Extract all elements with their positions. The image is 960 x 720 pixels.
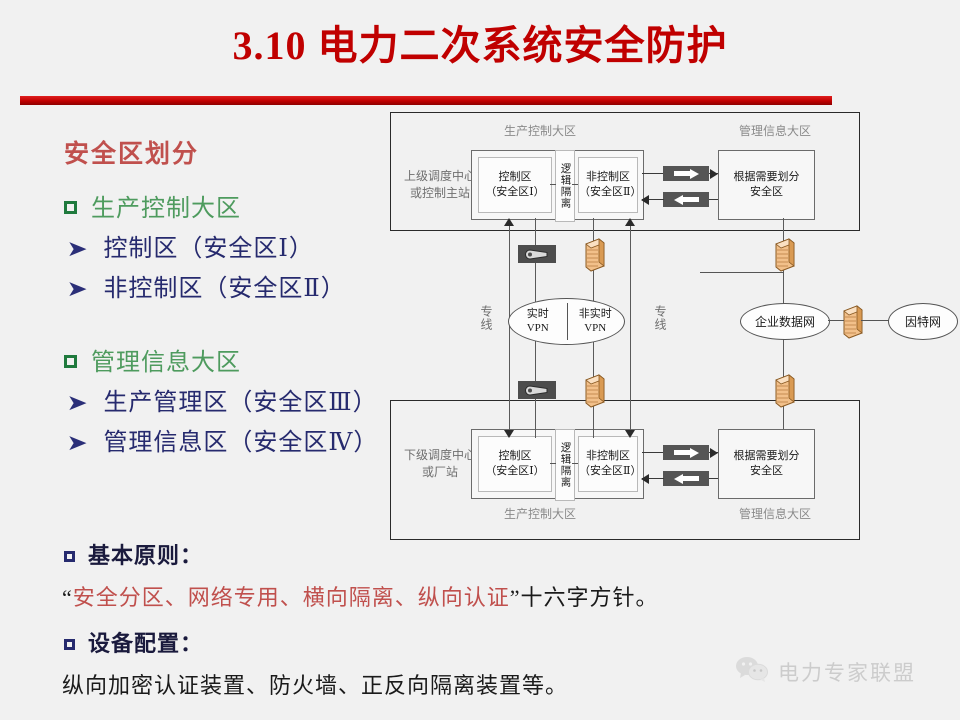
top-prod-caption: 生产控制大区 bbox=[455, 122, 625, 139]
bottom-iso-dash-right bbox=[572, 463, 578, 464]
top-iso-dash-right bbox=[572, 184, 578, 185]
top-reverse-line-in bbox=[709, 199, 718, 200]
slide-root: 3.10 电力二次系统安全防护 安全区划分 生产控制大区 ➤控制区（安全区Ⅰ） … bbox=[0, 0, 960, 720]
link-top-mgmt-down bbox=[783, 218, 784, 240]
vpn-realtime-label: 实时 VPN bbox=[509, 299, 567, 344]
trunk-dedicated-left-arrow-down bbox=[504, 430, 514, 438]
watermark: 电力专家联盟 bbox=[735, 655, 916, 688]
top-reverse-isolation-device[interactable] bbox=[663, 192, 709, 207]
bottom-nonrealtime-firewall[interactable] bbox=[583, 374, 605, 408]
security-zone-diagram: 生产控制大区 管理信息大区 上级调度中心 或控制主站 控制区 （安全区Ⅰ） 逻辑… bbox=[0, 0, 960, 720]
top-forward-isolation-device[interactable] bbox=[663, 166, 709, 181]
top-iso-dash-left bbox=[550, 184, 556, 185]
vpn-oval: 实时 VPN 非实时 VPN bbox=[508, 298, 625, 345]
bottom-reverse-arrowhead bbox=[641, 474, 649, 484]
watermark-text: 电力专家联盟 bbox=[778, 657, 916, 687]
link-firewall-internet bbox=[861, 320, 889, 321]
trunk-dedicated-right-arrow-up bbox=[625, 218, 635, 226]
bottom-forward-arrowhead bbox=[710, 448, 718, 458]
top-forward-arrowhead bbox=[710, 169, 718, 179]
top-nonrealtime-firewall[interactable] bbox=[583, 238, 605, 272]
vpn-nonrealtime-label: 非实时 VPN bbox=[567, 299, 625, 344]
top-isolation-label: 逻辑隔离 bbox=[555, 150, 575, 222]
link-entnet-firewall bbox=[828, 320, 844, 321]
trunk-dedicated-left-arrow-up bbox=[504, 218, 514, 226]
enterprise-network-oval: 企业数据网 bbox=[740, 303, 830, 340]
bottom-iso-dash-left bbox=[550, 463, 556, 464]
bottom-mgmt-zone-text: 根据需要划分 安全区 bbox=[734, 449, 800, 480]
bottom-reverse-line-in bbox=[709, 478, 718, 479]
dedicated-line-left-label: 专线 bbox=[478, 305, 495, 331]
bottom-encryption-device[interactable] bbox=[518, 381, 556, 399]
top-reverse-arrowhead bbox=[641, 195, 649, 205]
internet-firewall[interactable] bbox=[841, 305, 863, 339]
bottom-mgmt-firewall[interactable] bbox=[773, 374, 795, 408]
bottom-control-zone: 控制区 （安全区Ⅰ） bbox=[478, 436, 552, 492]
bottom-isolation-label: 逻辑隔离 bbox=[555, 429, 575, 501]
bottom-prod-caption: 生产控制大区 bbox=[455, 505, 625, 522]
top-encryption-device[interactable] bbox=[518, 245, 556, 263]
internet-oval: 因特网 bbox=[888, 303, 958, 340]
wechat-icon bbox=[735, 655, 769, 688]
trunk-dedicated-left bbox=[509, 224, 510, 436]
link-top-mgmt-h bbox=[700, 272, 784, 273]
top-control-zone: 控制区 （安全区Ⅰ） bbox=[478, 157, 552, 213]
top-mgmt-firewall[interactable] bbox=[773, 238, 795, 272]
bottom-mgmt-caption: 管理信息大区 bbox=[690, 505, 860, 522]
bottom-reverse-isolation-device[interactable] bbox=[663, 471, 709, 486]
bottom-noncontrol-zone: 非控制区 （安全区Ⅱ） bbox=[578, 436, 638, 492]
dedicated-line-right-label: 专线 bbox=[652, 305, 669, 331]
trunk-dedicated-right-arrow-down bbox=[625, 430, 635, 438]
vpn-oval-divider bbox=[567, 303, 568, 340]
bottom-forward-isolation-device[interactable] bbox=[663, 445, 709, 460]
top-mgmt-zone-text: 根据需要划分 安全区 bbox=[734, 170, 800, 201]
bottom-mgmt-zone-box: 根据需要划分 安全区 bbox=[718, 429, 815, 499]
trunk-dedicated-right bbox=[630, 224, 631, 436]
top-mgmt-zone-box: 根据需要划分 安全区 bbox=[718, 150, 815, 220]
top-mgmt-caption: 管理信息大区 bbox=[690, 122, 860, 139]
top-noncontrol-zone: 非控制区 （安全区Ⅱ） bbox=[578, 157, 638, 213]
